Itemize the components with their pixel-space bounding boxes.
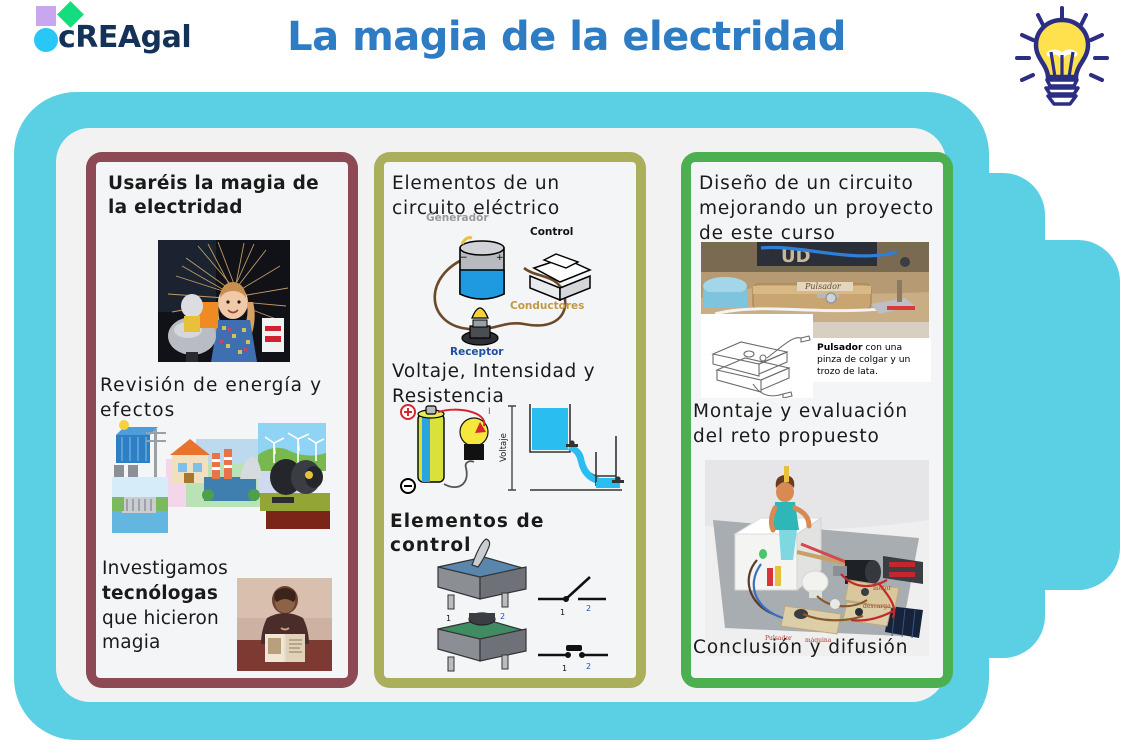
col3-heading-2: Montaje y evaluación del reto propuesto: [693, 400, 941, 450]
svg-text:Pulsador: Pulsador: [804, 282, 842, 291]
column-2-content: Elementos de un circuito eléctrico + −: [384, 162, 636, 678]
column-usareis-magia: Usaréis la magia de la electridad: [86, 152, 358, 688]
column-diseno-circuito: Diseño de un circuito mejorando un proye…: [681, 152, 953, 688]
col3-heading-3: Conclusión y difusión: [693, 636, 943, 661]
voltage-intensity-diagram: I Voltaje: [392, 400, 628, 498]
circuit-label-control: Control: [530, 226, 573, 238]
lightbulb-icon: [1007, 2, 1117, 112]
column-1-content: Usaréis la magia de la electridad: [96, 162, 348, 678]
svg-text:1: 1: [446, 614, 451, 623]
svg-text:descarga: descarga: [863, 603, 891, 610]
col1-heading-1: Usaréis la magia de la electridad: [108, 172, 338, 221]
circuit-label-generador: Generador: [426, 212, 489, 224]
svg-text:Voltaje: Voltaje: [499, 433, 509, 462]
investigamos-bold-word: tecnólogas: [102, 582, 242, 607]
page-title: La magia de la electridad: [0, 14, 1133, 60]
col1-investigamos-block: Investigamos tecnólogas que hicieron mag…: [102, 557, 242, 656]
control-elements-diagram: 1 2 1 2 1 2: [410, 537, 615, 672]
investigamos-line-4: magia: [102, 631, 242, 656]
pulsador-line-sketch: [701, 314, 813, 398]
tecnologa-portrait-photo: [237, 578, 332, 671]
investigamos-line-1: Investigamos: [102, 557, 242, 582]
pulsador-caption: Pulsador con una pinza de colgar y un tr…: [813, 338, 931, 382]
svg-text:1: 1: [562, 664, 567, 672]
circuit-label-conductores: Conductores: [510, 300, 584, 312]
pulsador-caption-bold: Pulsador: [817, 342, 863, 353]
svg-text:1: 1: [560, 608, 565, 617]
student-circuit-project-photo: motor Pulsador máquina descarga: [705, 460, 929, 656]
girl-van-de-graaff-photo: [158, 240, 290, 362]
circuit-diagram: + − Generador Control Conductore: [404, 224, 614, 354]
battery-terminal-tip: [1020, 240, 1120, 590]
circuit-label-receptor: Receptor: [450, 346, 503, 358]
svg-text:−: −: [460, 253, 468, 263]
investigamos-line-3: que hicieron: [102, 607, 242, 632]
svg-text:+: +: [496, 253, 504, 263]
svg-text:2: 2: [586, 604, 591, 613]
column-3-content: Diseño de un circuito mejorando un proye…: [691, 162, 943, 678]
svg-text:2: 2: [586, 662, 591, 671]
energy-sources-collage: [108, 415, 336, 539]
svg-text:I: I: [488, 407, 491, 417]
svg-text:2: 2: [500, 612, 505, 621]
col3-heading-1: Diseño de un circuito mejorando un proye…: [699, 172, 941, 246]
column-elementos-circuito: Elementos de un circuito eléctrico + −: [374, 152, 646, 688]
